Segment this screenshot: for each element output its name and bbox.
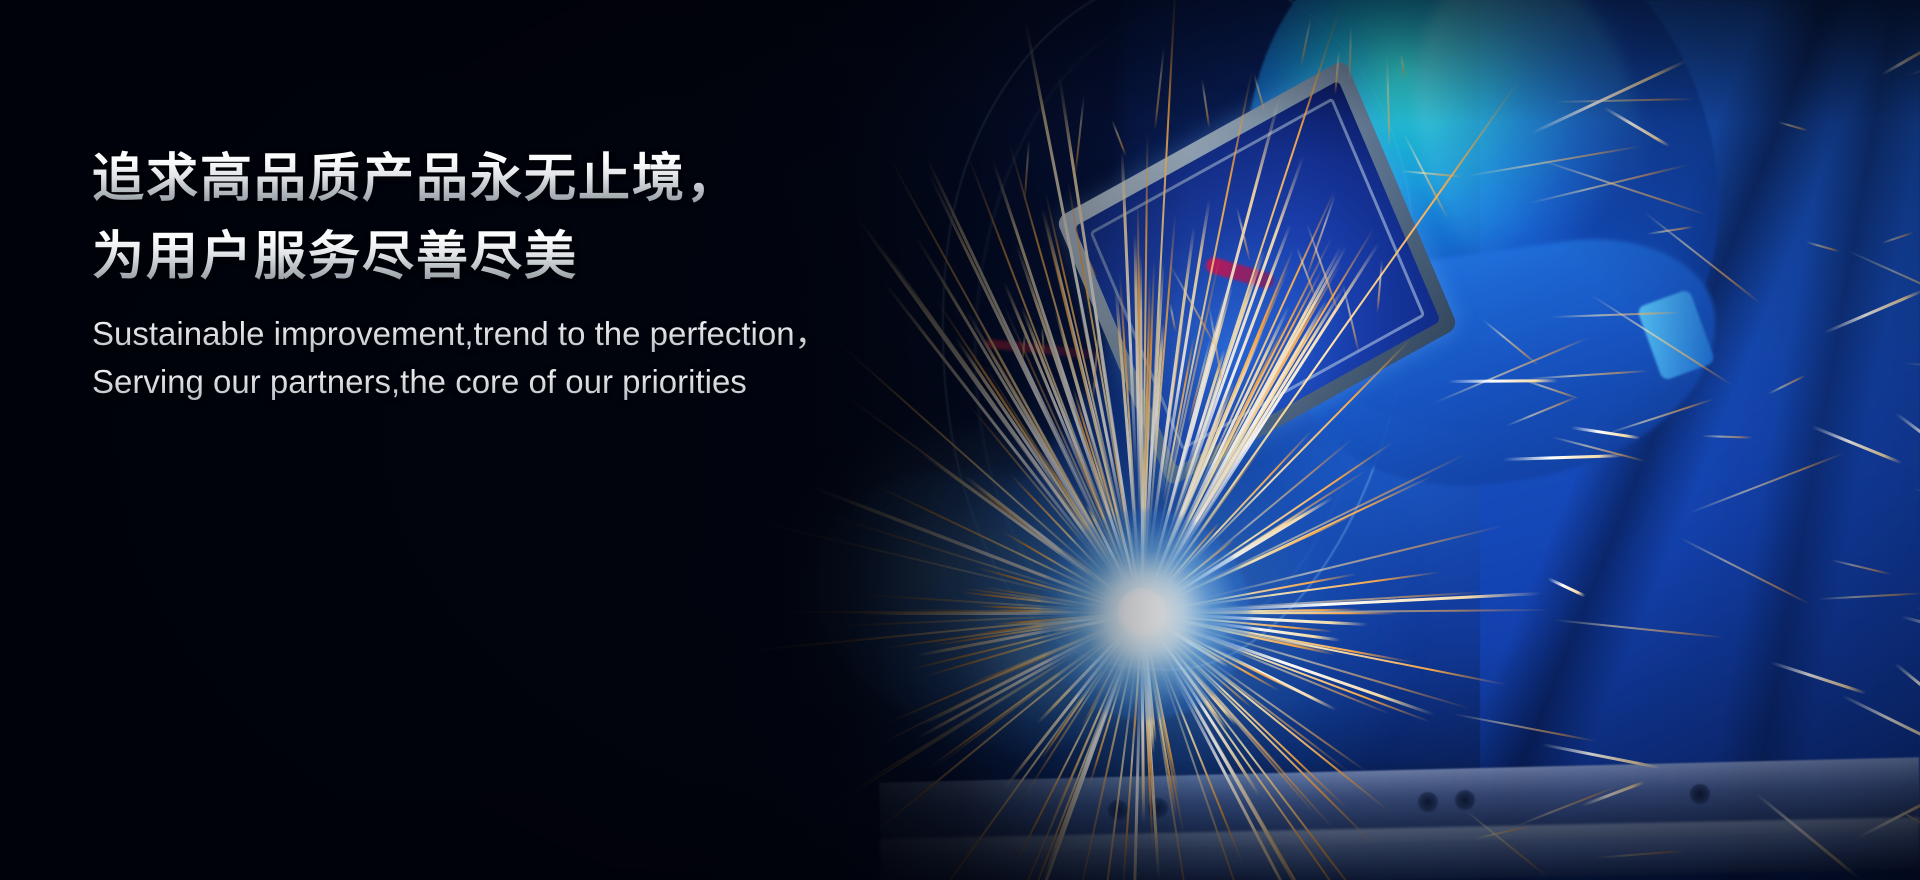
headline-line-1: 追求高品质产品永无止境，: [92, 140, 828, 218]
subtitle-line-2: Serving our partners,the core of our pri…: [92, 358, 828, 406]
subtitle-line-1: Sustainable improvement,trend to the per…: [92, 310, 828, 358]
hero-banner: 追求高品质产品永无止境， 为用户服务尽善尽美 Sustainable impro…: [0, 0, 1920, 880]
vignette-overlay: [0, 0, 1920, 880]
welding-photo: [0, 0, 1920, 880]
banner-copy: 追求高品质产品永无止境， 为用户服务尽善尽美 Sustainable impro…: [92, 140, 828, 406]
subtitle-block: Sustainable improvement,trend to the per…: [92, 310, 828, 406]
headline-line-2: 为用户服务尽善尽美: [92, 218, 828, 296]
